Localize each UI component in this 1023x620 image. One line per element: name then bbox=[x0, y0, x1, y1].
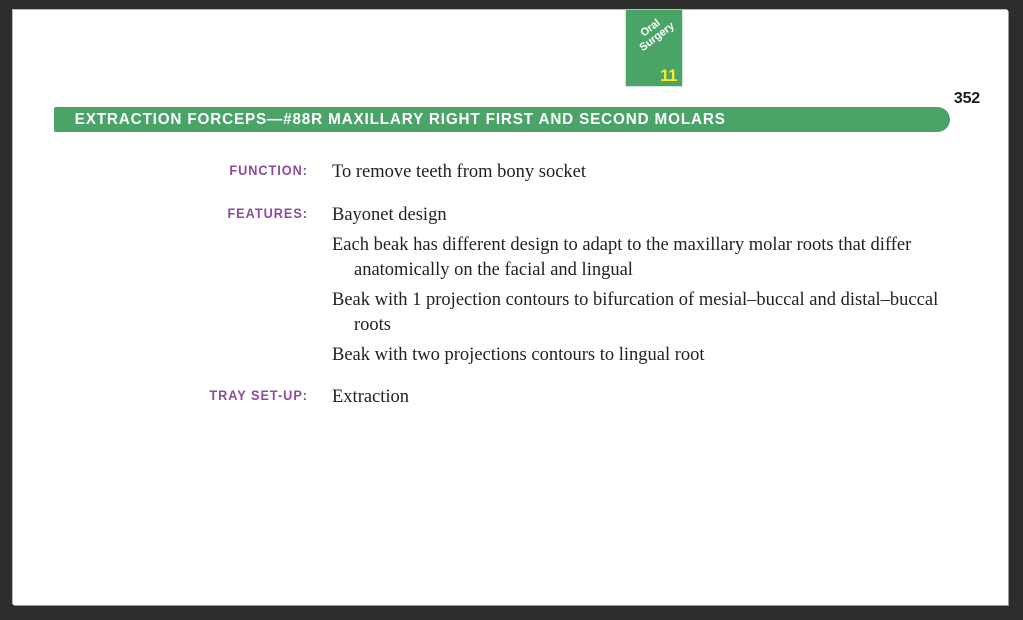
row-values-tray-set-up: Extraction bbox=[332, 385, 972, 410]
chapter-thumb-tab: Oral Surgery 11 bbox=[626, 10, 682, 86]
section-title-bar: EXTRACTION FORCEPS—#88R MAXILLARY RIGHT … bbox=[54, 107, 950, 132]
row-label-function: FUNCTION: bbox=[31, 163, 308, 178]
row-values-features: Bayonet design Each beak has different d… bbox=[332, 203, 972, 368]
content-area: FUNCTION: To remove teeth from bony sock… bbox=[13, 160, 1008, 409]
chapter-tab-number: 11 bbox=[660, 67, 677, 84]
row-tray-set-up: TRAY SET-UP: Extraction bbox=[13, 385, 1008, 410]
row-label-tray-set-up: TRAY SET-UP: bbox=[31, 388, 308, 403]
row-function: FUNCTION: To remove teeth from bony sock… bbox=[13, 160, 1008, 185]
value-line: Bayonet design bbox=[332, 203, 972, 228]
value-line: Beak with two projections contours to li… bbox=[332, 343, 972, 368]
screenshot-viewport: Oral Surgery 11 352 EXTRACTION FORCEPS—#… bbox=[0, 0, 1023, 620]
document-page: Oral Surgery 11 352 EXTRACTION FORCEPS—#… bbox=[13, 10, 1008, 605]
value-line: Extraction bbox=[332, 385, 972, 410]
value-line: Each beak has different design to adapt … bbox=[332, 233, 972, 282]
row-values-function: To remove teeth from bony socket bbox=[332, 160, 972, 185]
value-line: Beak with 1 projection contours to bifur… bbox=[332, 288, 972, 337]
chapter-tab-title: Oral Surgery bbox=[622, 10, 686, 61]
page-number: 352 bbox=[954, 90, 980, 108]
row-features: FEATURES: Bayonet design Each beak has d… bbox=[13, 203, 1008, 368]
section-title-text: EXTRACTION FORCEPS—#88R MAXILLARY RIGHT … bbox=[54, 111, 726, 129]
value-line: To remove teeth from bony socket bbox=[332, 160, 972, 185]
row-label-features: FEATURES: bbox=[31, 206, 308, 221]
